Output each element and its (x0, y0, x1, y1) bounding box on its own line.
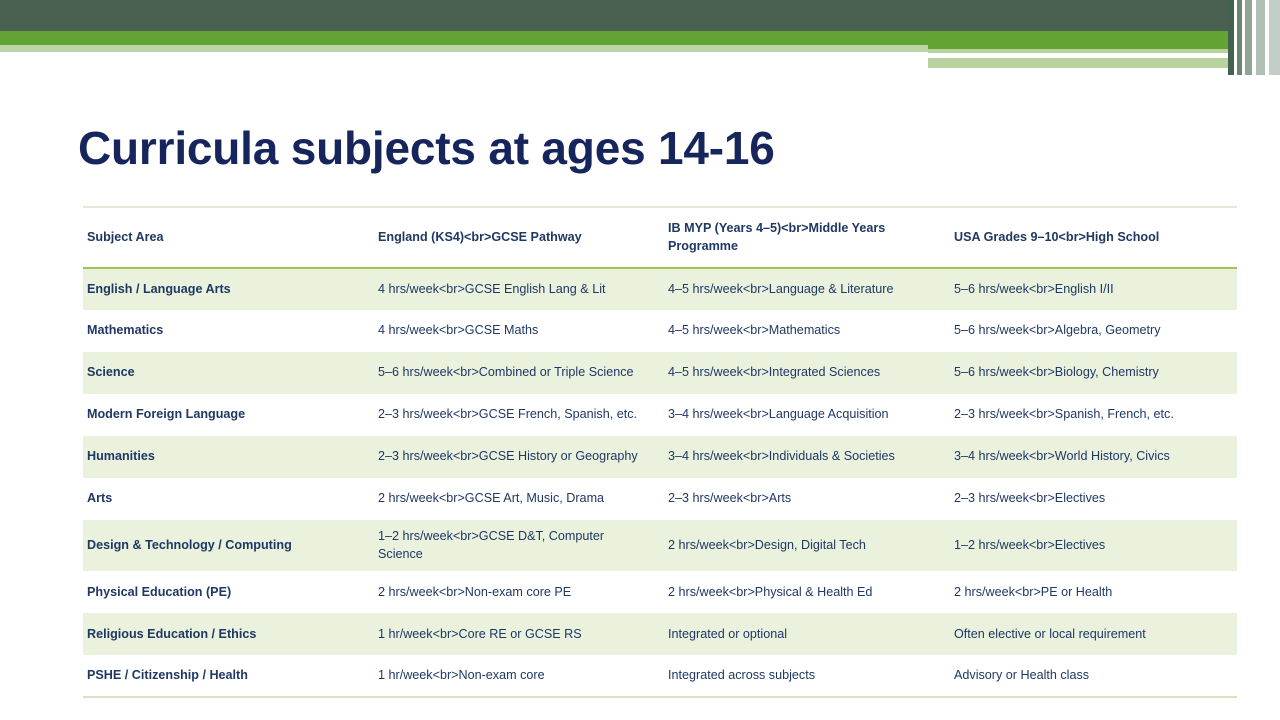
cell-usa: Advisory or Health class (948, 655, 1237, 697)
cell-england: 4 hrs/week<br>GCSE English Lang & Lit (372, 268, 662, 310)
table-row: Mathematics 4 hrs/week<br>GCSE Maths 4–5… (83, 310, 1237, 352)
table-row: Arts 2 hrs/week<br>GCSE Art, Music, Dram… (83, 478, 1237, 520)
table-body: English / Language Arts 4 hrs/week<br>GC… (83, 268, 1237, 698)
column-header-usa-grades: USA Grades 9–10<br>High School (948, 207, 1237, 268)
cell-usa: 2–3 hrs/week<br>Electives (948, 478, 1237, 520)
cell-usa: Often elective or local requirement (948, 613, 1237, 655)
cell-subject: Design & Technology / Computing (83, 520, 372, 572)
cell-usa: 3–4 hrs/week<br>World History, Civics (948, 436, 1237, 478)
curriculum-table-container: Subject Area England (KS4)<br>GCSE Pathw… (83, 206, 1237, 698)
cell-england: 1 hr/week<br>Non-exam core (372, 655, 662, 697)
cell-subject: Mathematics (83, 310, 372, 352)
cell-subject: Arts (83, 478, 372, 520)
cell-england: 4 hrs/week<br>GCSE Maths (372, 310, 662, 352)
banner-pale-green-bar-left (0, 45, 928, 52)
column-header-england-ks4: England (KS4)<br>GCSE Pathway (372, 207, 662, 268)
cell-subject: PSHE / Citizenship / Health (83, 655, 372, 697)
cell-england: 1–2 hrs/week<br>GCSE D&T, Computer Scien… (372, 520, 662, 572)
column-header-subject-area: Subject Area (83, 207, 372, 268)
cell-subject: English / Language Arts (83, 268, 372, 310)
cell-subject: Modern Foreign Language (83, 394, 372, 436)
cell-ib: Integrated or optional (662, 613, 948, 655)
cell-usa: 5–6 hrs/week<br>Biology, Chemistry (948, 352, 1237, 394)
table-row: English / Language Arts 4 hrs/week<br>GC… (83, 268, 1237, 310)
cell-usa: 2 hrs/week<br>PE or Health (948, 571, 1237, 613)
table-row: Humanities 2–3 hrs/week<br>GCSE History … (83, 436, 1237, 478)
page-title: Curricula subjects at ages 14-16 (78, 122, 1198, 175)
cell-ib: 4–5 hrs/week<br>Integrated Sciences (662, 352, 948, 394)
slide: Curricula subjects at ages 14-16 Subject… (0, 0, 1280, 720)
table-row: Religious Education / Ethics 1 hr/week<b… (83, 613, 1237, 655)
cell-usa: 5–6 hrs/week<br>Algebra, Geometry (948, 310, 1237, 352)
table-header-row: Subject Area England (KS4)<br>GCSE Pathw… (83, 207, 1237, 268)
cell-england: 5–6 hrs/week<br>Combined or Triple Scien… (372, 352, 662, 394)
cell-subject: Science (83, 352, 372, 394)
table-row: Design & Technology / Computing 1–2 hrs/… (83, 520, 1237, 572)
cell-england: 2 hrs/week<br>GCSE Art, Music, Drama (372, 478, 662, 520)
cell-ib: 2 hrs/week<br>Physical & Health Ed (662, 571, 948, 613)
cell-ib: 3–4 hrs/week<br>Individuals & Societies (662, 436, 948, 478)
cell-usa: 2–3 hrs/week<br>Spanish, French, etc. (948, 394, 1237, 436)
cell-ib: 4–5 hrs/week<br>Language & Literature (662, 268, 948, 310)
table-row: Science 5–6 hrs/week<br>Combined or Trip… (83, 352, 1237, 394)
cell-ib: 2–3 hrs/week<br>Arts (662, 478, 948, 520)
cell-ib: 2 hrs/week<br>Design, Digital Tech (662, 520, 948, 572)
slide-header-banner (0, 0, 1280, 75)
table-header: Subject Area England (KS4)<br>GCSE Pathw… (83, 207, 1237, 268)
cell-england: 2–3 hrs/week<br>GCSE History or Geograph… (372, 436, 662, 478)
banner-dark-band (0, 0, 1280, 31)
table-row: Modern Foreign Language 2–3 hrs/week<br>… (83, 394, 1237, 436)
cell-england: 2–3 hrs/week<br>GCSE French, Spanish, et… (372, 394, 662, 436)
cell-england: 2 hrs/week<br>Non-exam core PE (372, 571, 662, 613)
cell-ib: 3–4 hrs/week<br>Language Acquisition (662, 394, 948, 436)
cell-subject: Religious Education / Ethics (83, 613, 372, 655)
cell-ib: Integrated across subjects (662, 655, 948, 697)
table-row: PSHE / Citizenship / Health 1 hr/week<br… (83, 655, 1237, 697)
curriculum-table: Subject Area England (KS4)<br>GCSE Pathw… (83, 206, 1237, 698)
banner-pale-bar-lower (928, 58, 1266, 68)
cell-usa: 1–2 hrs/week<br>Electives (948, 520, 1237, 572)
cell-subject: Humanities (83, 436, 372, 478)
table-row: Physical Education (PE) 2 hrs/week<br>No… (83, 571, 1237, 613)
cell-ib: 4–5 hrs/week<br>Mathematics (662, 310, 948, 352)
cell-england: 1 hr/week<br>Core RE or GCSE RS (372, 613, 662, 655)
banner-vertical-stripes (1228, 0, 1280, 75)
cell-subject: Physical Education (PE) (83, 571, 372, 613)
column-header-ib-myp: IB MYP (Years 4–5)<br>Middle Years Progr… (662, 207, 948, 268)
cell-usa: 5–6 hrs/week<br>English I/II (948, 268, 1237, 310)
